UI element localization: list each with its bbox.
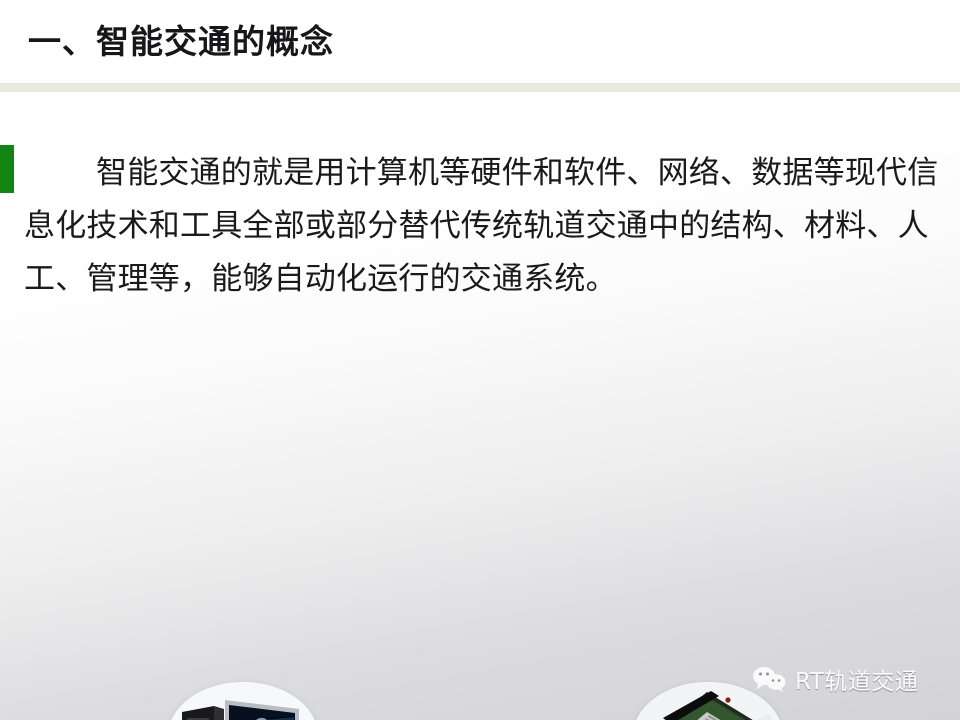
body-paragraph: 智能交通的就是用计算机等硬件和软件、网络、数据等现代信息化技术和工具全部或部分替… (24, 146, 940, 305)
watermark-text: RT轨道交通 (795, 662, 918, 696)
slide-canvas: 一、智能交通的概念 智能交通的就是用计算机等硬件和软件、网络、数据等现代信息化技… (0, 0, 960, 720)
title-divider-band (0, 83, 960, 92)
wechat-icon (752, 665, 786, 693)
watermark: RT轨道交通 (752, 662, 918, 696)
photo-desktop-computer (168, 682, 318, 720)
page-title: 一、智能交通的概念 (28, 15, 334, 63)
green-accent-marker (0, 145, 14, 193)
